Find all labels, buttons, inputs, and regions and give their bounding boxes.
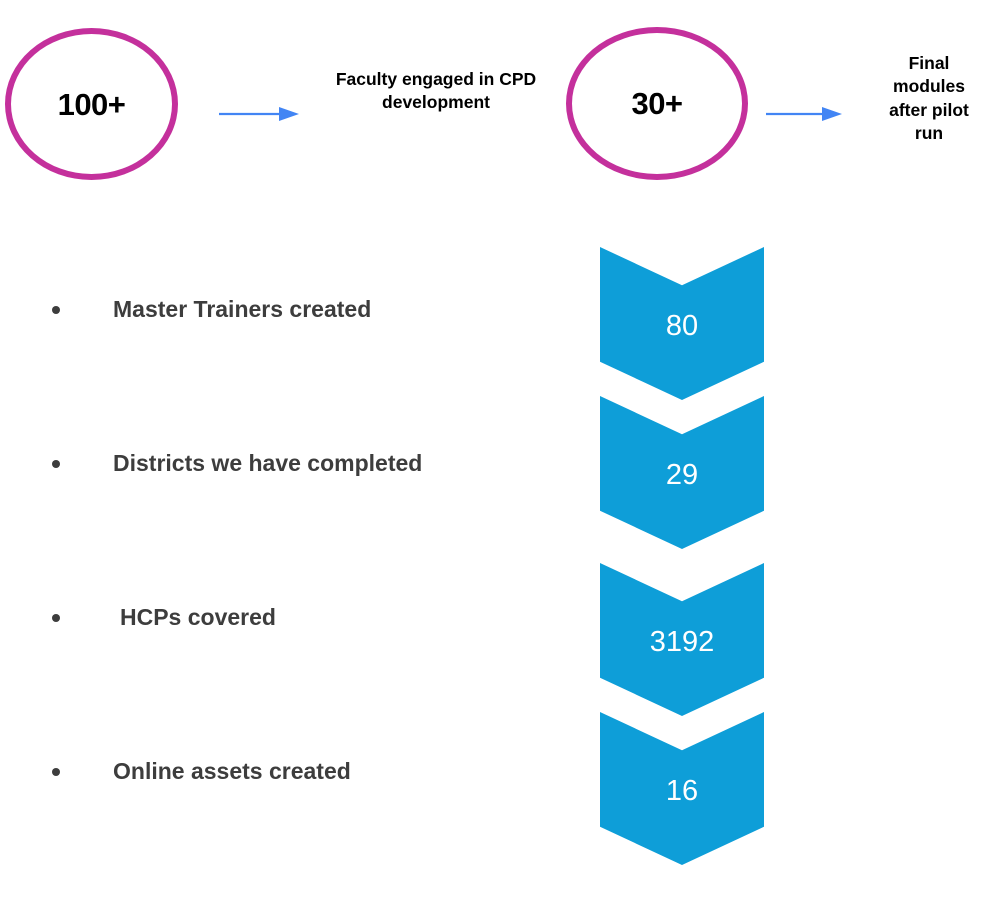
metric-bullet-list: Master Trainers created Districts we hav… — [0, 276, 580, 892]
modules-caption: Final modules after pilot run — [865, 52, 992, 145]
list-item: Districts we have completed — [0, 430, 580, 584]
metric-value-master-trainers: 80 — [666, 312, 698, 341]
infographic-canvas: 100+ Faculty engaged in CPD development … — [0, 0, 992, 908]
metric-label-hcps-covered: HCPs covered — [120, 604, 276, 632]
faculty-circle: 100+ — [5, 28, 178, 180]
metric-value-districts-completed: 29 — [666, 461, 698, 490]
metric-value-online-assets: 16 — [666, 777, 698, 806]
modules-caption-line-4: run — [865, 122, 992, 145]
bullet-dot-icon — [52, 460, 60, 468]
chevron-shape-master-trainers: 80 — [600, 247, 764, 400]
modules-caption-line-2: modules — [865, 75, 992, 98]
faculty-caption-line-3: development — [382, 92, 490, 112]
metric-chevron-stack: 80 29 3192 16 — [600, 247, 764, 877]
bullet-dot-icon — [52, 614, 60, 622]
modules-circle-value: 30+ — [631, 88, 682, 119]
faculty-caption-line-2: in CPD — [479, 69, 536, 89]
flow-arrow-two-icon — [766, 103, 842, 125]
modules-caption-line-1: Final — [865, 52, 992, 75]
modules-circle: 30+ — [566, 27, 748, 180]
bullet-dot-icon — [52, 306, 60, 314]
list-item: Online assets created — [0, 738, 580, 892]
faculty-caption: Faculty engaged in CPD development — [331, 68, 541, 115]
metric-label-master-trainers: Master Trainers created — [113, 296, 371, 324]
metric-label-districts-completed: Districts we have completed — [113, 450, 422, 478]
metric-value-hcps-covered: 3192 — [650, 628, 715, 657]
faculty-caption-line-1: Faculty engaged — [336, 69, 474, 89]
modules-caption-line-3: after pilot — [865, 99, 992, 122]
chevron-shape-hcps-covered: 3192 — [600, 563, 764, 716]
chevron-shape-districts-completed: 29 — [600, 396, 764, 549]
bullet-dot-icon — [52, 768, 60, 776]
list-item: HCPs covered — [0, 584, 580, 738]
chevron-shape-online-assets: 16 — [600, 712, 764, 865]
flow-arrow-one-icon — [219, 103, 299, 125]
faculty-circle-value: 100+ — [58, 89, 126, 120]
list-item: Master Trainers created — [0, 276, 580, 430]
metric-label-online-assets: Online assets created — [113, 758, 351, 786]
